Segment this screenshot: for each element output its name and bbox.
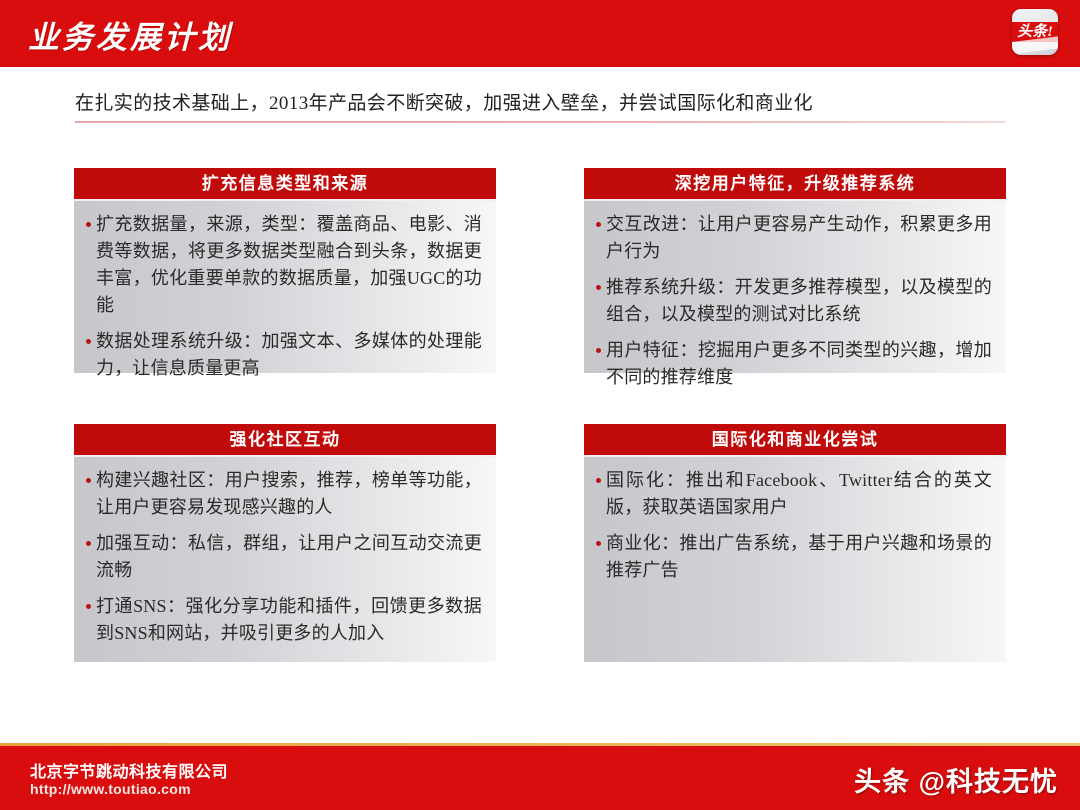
bullet-dot-icon bbox=[86, 339, 91, 344]
card-body: 交互改进：让用户更容易产生动作，积累更多用户行为 推荐系统升级：开发更多推荐模型… bbox=[584, 201, 1006, 373]
footer-watermark: 头条 @科技无忧 bbox=[854, 760, 1058, 799]
list-item-text: 交互改进：让用户更容易产生动作，积累更多用户行为 bbox=[606, 211, 992, 265]
content-card-community: 强化社区互动 构建兴趣社区：用户搜索，推荐，榜单等功能，让用户更容易发现感兴趣的… bbox=[74, 424, 496, 662]
list-item: 交互改进：让用户更容易产生动作，积累更多用户行为 bbox=[596, 211, 992, 265]
bullet-dot-icon bbox=[86, 478, 91, 483]
content-card-user-profiling: 深挖用户特征，升级推荐系统 交互改进：让用户更容易产生动作，积累更多用户行为 推… bbox=[584, 168, 1006, 373]
list-item-text: 加强互动：私信，群组，让用户之间互动交流更流畅 bbox=[96, 530, 482, 584]
content-card-expand-sources: 扩充信息类型和来源 扩充数据量，来源，类型：覆盖商品、电影、消费等数据，将更多数… bbox=[74, 168, 496, 373]
list-item-text: 构建兴趣社区：用户搜索，推荐，榜单等功能，让用户更容易发现感兴趣的人 bbox=[96, 467, 482, 521]
list-item-text: 扩充数据量，来源，类型：覆盖商品、电影、消费等数据，将更多数据类型融合到头条，数… bbox=[96, 211, 482, 319]
card-title: 扩充信息类型和来源 bbox=[74, 168, 496, 201]
slide-subtitle: 在扎实的技术基础上，2013年产品会不断突破，加强进入壁垒，并尝试国际化和商业化 bbox=[75, 88, 1005, 115]
footer-company-name: 北京字节跳动科技有限公司 bbox=[30, 758, 228, 782]
bullet-dot-icon bbox=[596, 285, 601, 290]
page-title: 业务发展计划 bbox=[28, 12, 232, 57]
toutiao-app-icon: 头条! bbox=[1012, 9, 1058, 55]
list-item: 用户特征：挖掘用户更多不同类型的兴趣，增加不同的推荐维度 bbox=[596, 337, 992, 391]
list-item: 加强互动：私信，群组，让用户之间互动交流更流畅 bbox=[86, 530, 482, 584]
list-item-text: 打通SNS：强化分享功能和插件，回馈更多数据到SNS和网站，并吸引更多的人加入 bbox=[96, 593, 482, 647]
list-item: 构建兴趣社区：用户搜索，推荐，榜单等功能，让用户更容易发现感兴趣的人 bbox=[86, 467, 482, 521]
bullet-dot-icon bbox=[596, 541, 601, 546]
list-item-text: 数据处理系统升级：加强文本、多媒体的处理能力，让信息质量更高 bbox=[96, 328, 482, 382]
list-item: 扩充数据量，来源，类型：覆盖商品、电影、消费等数据，将更多数据类型融合到头条，数… bbox=[86, 211, 482, 319]
list-item-text: 国际化：推出和Facebook、Twitter结合的英文版，获取英语国家用户 bbox=[606, 467, 992, 521]
card-body: 扩充数据量，来源，类型：覆盖商品、电影、消费等数据，将更多数据类型融合到头条，数… bbox=[74, 201, 496, 373]
card-title: 强化社区互动 bbox=[74, 424, 496, 457]
bullet-dot-icon bbox=[86, 222, 91, 227]
card-title: 深挖用户特征，升级推荐系统 bbox=[584, 168, 1006, 201]
card-title: 国际化和商业化尝试 bbox=[584, 424, 1006, 457]
card-body: 国际化：推出和Facebook、Twitter结合的英文版，获取英语国家用户 商… bbox=[584, 457, 1006, 662]
bullet-dot-icon bbox=[86, 604, 91, 609]
subtitle-divider bbox=[75, 121, 1005, 123]
list-item-text: 商业化：推出广告系统，基于用户兴趣和场景的推荐广告 bbox=[606, 530, 992, 584]
list-item: 商业化：推出广告系统，基于用户兴趣和场景的推荐广告 bbox=[596, 530, 992, 584]
bullet-dot-icon bbox=[596, 348, 601, 353]
bullet-dot-icon bbox=[86, 541, 91, 546]
footer-website-url[interactable]: http://www.toutiao.com bbox=[30, 781, 191, 797]
list-item: 推荐系统升级：开发更多推荐模型，以及模型的组合，以及模型的测试对比系统 bbox=[596, 274, 992, 328]
bullet-dot-icon bbox=[596, 478, 601, 483]
content-card-globalization: 国际化和商业化尝试 国际化：推出和Facebook、Twitter结合的英文版，… bbox=[584, 424, 1006, 662]
list-item: 打通SNS：强化分享功能和插件，回馈更多数据到SNS和网站，并吸引更多的人加入 bbox=[86, 593, 482, 647]
card-body: 构建兴趣社区：用户搜索，推荐，榜单等功能，让用户更容易发现感兴趣的人 加强互动：… bbox=[74, 457, 496, 662]
list-item-text: 用户特征：挖掘用户更多不同类型的兴趣，增加不同的推荐维度 bbox=[606, 337, 992, 391]
list-item-text: 推荐系统升级：开发更多推荐模型，以及模型的组合，以及模型的测试对比系统 bbox=[606, 274, 992, 328]
slide-canvas: 业务发展计划 头条! 在扎实的技术基础上，2013年产品会不断突破，加强进入壁垒… bbox=[0, 0, 1080, 810]
list-item: 国际化：推出和Facebook、Twitter结合的英文版，获取英语国家用户 bbox=[596, 467, 992, 521]
bullet-dot-icon bbox=[596, 222, 601, 227]
list-item: 数据处理系统升级：加强文本、多媒体的处理能力，让信息质量更高 bbox=[86, 328, 482, 382]
